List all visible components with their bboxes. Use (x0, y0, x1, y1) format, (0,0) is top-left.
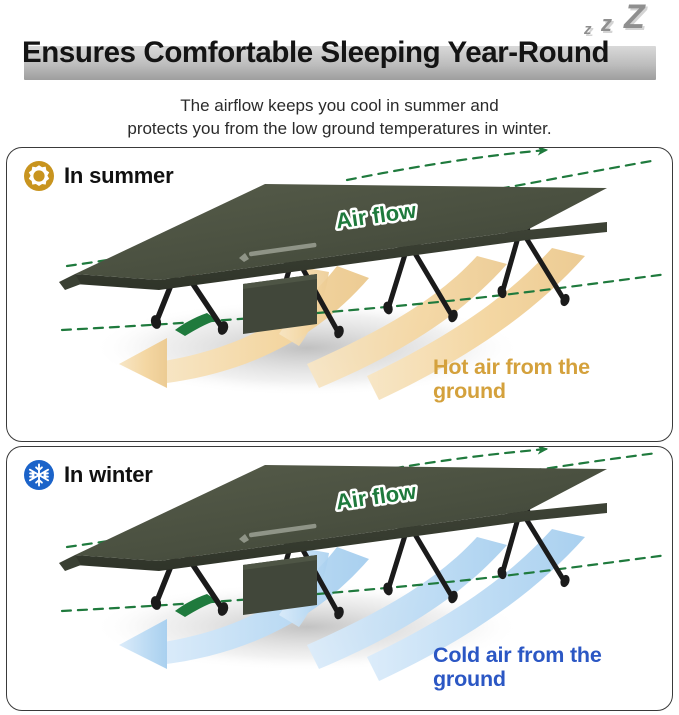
snowflake-icon (23, 459, 55, 491)
page-title-block: Ensures Comfortable Sleeping Year-Round (0, 36, 679, 84)
subtitle-line-1: The airflow keeps you cool in summer and (0, 94, 679, 117)
page-title: Ensures Comfortable Sleeping Year-Round (22, 36, 662, 70)
winter-panel-header: In winter (23, 459, 153, 491)
dash-top-right (347, 150, 547, 180)
page-subtitle: The airflow keeps you cool in summer and… (0, 94, 679, 141)
zzz-glyph-small: z (584, 22, 592, 37)
sun-icon (23, 160, 55, 192)
subtitle-line-2: protects you from the low ground tempera… (0, 117, 679, 140)
zzz-glyph-medium: z (601, 13, 612, 35)
hot-air-caption: Hot air from the ground (433, 355, 590, 403)
winter-panel-label: In winter (64, 462, 153, 488)
cold-air-caption: Cold air from the ground (433, 643, 602, 691)
summer-panel-header: In summer (23, 160, 173, 192)
infographic-page: z z Z Ensures Comfortable Sleeping Year-… (0, 0, 679, 715)
zzz-glyph-large: Z (624, 0, 645, 34)
summer-panel-label: In summer (64, 163, 173, 189)
